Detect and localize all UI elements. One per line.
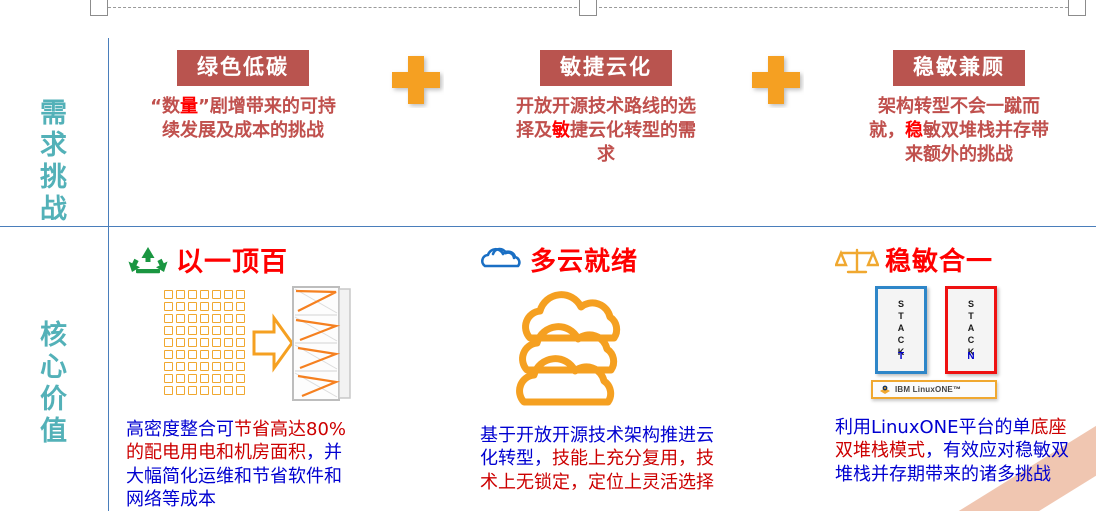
multi-cloud-illustration (502, 286, 720, 414)
value-card-header: 以一顶百 (126, 242, 356, 282)
server-grid-cell (164, 350, 173, 359)
server-grid-cell (188, 290, 197, 299)
server-grid-cell (236, 350, 245, 359)
server-grid-cell (164, 326, 173, 335)
challenge-body-text: 开放开源技术路线的选择及敏捷云化转型的需求 (513, 95, 699, 166)
value-card-description: 利用LinuxONE平台的单底座双堆栈模式，有效应对稳敏双堆栈并存期带来的诸多挑… (835, 416, 1075, 486)
server-grid-cell (176, 386, 185, 395)
row-label-char: 价 (20, 384, 88, 416)
server-grid-cell (212, 314, 221, 323)
stacked-clouds-icon (502, 286, 662, 414)
server-density-illustration (164, 286, 356, 406)
stack-tag: T (878, 351, 924, 362)
recycle-icon (126, 245, 170, 279)
server-grid-cell (236, 374, 245, 383)
server-grid-cell (176, 374, 185, 383)
server-grid-cell (224, 338, 233, 347)
server-grid-cell (236, 302, 245, 311)
stack-box-new: S T A C K N (945, 286, 997, 374)
server-grid-cell (200, 362, 209, 371)
row-divider-line (0, 226, 1096, 227)
server-grid-cell (176, 338, 185, 347)
server-grid-cell (200, 302, 209, 311)
slide-selection-guide[interactable] (88, 0, 1088, 18)
value-card[interactable]: 稳敏合一 S T A C K T S T (835, 242, 1075, 486)
server-grid-cell (164, 314, 173, 323)
server-grid-cell (212, 350, 221, 359)
row-label-char: 核 (20, 320, 88, 352)
server-grid-cell (188, 362, 197, 371)
row-label-char: 挑 (20, 162, 88, 194)
server-grid-cell (224, 362, 233, 371)
server-grid-cell (188, 350, 197, 359)
value-card-description: 基于开放开源技术架构推进云化转型，技能上充分复用，技术上无锁定，定位上灵活选择 (480, 424, 720, 494)
plus-icon (748, 52, 804, 108)
server-grid-cell (236, 338, 245, 347)
server-grid-cell (224, 302, 233, 311)
server-grid-cell (164, 338, 173, 347)
server-grid-cell (212, 386, 221, 395)
server-grid-cell (212, 338, 221, 347)
server-grid-cell (200, 386, 209, 395)
server-grid-cell (236, 362, 245, 371)
server-grid-cell (200, 338, 209, 347)
server-grid-cell (224, 290, 233, 299)
slide-canvas: 需 求 挑 战 核 心 价 值 绿色低碳 “数量”剧增带来的可持续发展及成本的挑… (0, 0, 1096, 511)
server-grid-cell (224, 314, 233, 323)
balance-scale-icon (835, 245, 879, 279)
value-card-title: 多云就绪 (530, 249, 638, 275)
server-grid-cell (212, 290, 221, 299)
server-grid-cell (164, 362, 173, 371)
dual-stack-illustration: S T A C K T S T A C K (861, 286, 1075, 408)
row-label-char: 心 (20, 352, 88, 384)
challenge-body-text: 架构转型不会一蹴而就，稳敏双堆栈并存带来额外的挑战 (866, 95, 1052, 166)
server-grid-cell (212, 362, 221, 371)
server-grid (164, 290, 247, 397)
server-grid-cell (176, 350, 185, 359)
server-grid-cell (212, 374, 221, 383)
server-grid-cell (176, 314, 185, 323)
server-grid-cell (188, 338, 197, 347)
server-grid-cell (176, 302, 185, 311)
server-grid-cell (224, 326, 233, 335)
row-label-demand-challenge: 需 求 挑 战 (20, 98, 88, 225)
server-grid-cell (164, 302, 173, 311)
server-grid-cell (200, 290, 209, 299)
server-grid-cell (200, 326, 209, 335)
challenge-card[interactable]: 稳敏兼顾 架构转型不会一蹴而就，稳敏双堆栈并存带来额外的挑战 (866, 50, 1052, 166)
row-label-char: 战 (20, 194, 88, 226)
plus-icon (388, 52, 444, 108)
server-grid-cell (188, 314, 197, 323)
server-grid-cell (188, 374, 197, 383)
row-label-char: 求 (20, 130, 88, 162)
server-grid-cell (200, 350, 209, 359)
server-grid-cell (200, 374, 209, 383)
challenge-card[interactable]: 敏捷云化 开放开源技术路线的选择及敏捷云化转型的需求 (513, 50, 699, 166)
selection-handle-left[interactable] (90, 0, 108, 16)
cloud-icon (480, 245, 524, 279)
value-card-title: 以一顶百 (176, 249, 288, 276)
arrow-icon (252, 312, 294, 374)
server-grid-cell (188, 386, 197, 395)
server-grid-cell (236, 326, 245, 335)
challenge-badge-title: 绿色低碳 (177, 50, 309, 86)
challenge-card[interactable]: 绿色低碳 “数量”剧增带来的可持续发展及成本的挑战 (150, 50, 336, 143)
stack-letters: S T A C K (948, 299, 994, 358)
challenge-badge-title: 敏捷云化 (540, 50, 672, 86)
row-label-char: 需 (20, 98, 88, 130)
value-card-title: 稳敏合一 (885, 249, 993, 275)
server-grid-cell (164, 386, 173, 395)
server-grid-cell (212, 326, 221, 335)
server-grid-cell (176, 290, 185, 299)
server-grid-cell (224, 386, 233, 395)
value-card-header: 多云就绪 (480, 242, 720, 282)
server-grid-cell (236, 314, 245, 323)
server-grid-cell (200, 314, 209, 323)
server-grid-cell (164, 290, 173, 299)
value-card[interactable]: 多云就绪 基于开放开源技术架构推进云化转型，技能上充分复用，技术上无锁定，定位上… (480, 242, 720, 494)
server-grid-cell (236, 386, 245, 395)
row-label-core-value: 核 心 价 值 (20, 320, 88, 447)
challenge-badge-title: 稳敏兼顾 (893, 50, 1025, 86)
stack-letters: S T A C K (878, 299, 924, 358)
linuxone-logo-icon (879, 384, 891, 396)
server-grid-cell (212, 302, 221, 311)
server-grid-cell (164, 374, 173, 383)
linuxone-badge: IBM LinuxONE™ (871, 380, 997, 399)
server-grid-cell (188, 326, 197, 335)
value-card-header: 稳敏合一 (835, 242, 1075, 282)
column-divider-line (108, 38, 109, 511)
linuxone-badge-text: IBM LinuxONE™ (895, 385, 961, 394)
row-label-char: 值 (20, 416, 88, 448)
stack-tag: N (948, 351, 994, 362)
server-rack-icon (292, 286, 354, 401)
selection-handle-center[interactable] (579, 0, 597, 16)
server-grid-cell (188, 302, 197, 311)
server-grid-cell (224, 374, 233, 383)
server-grid-cell (236, 290, 245, 299)
value-card[interactable]: 以一顶百 (126, 242, 356, 511)
server-grid-cell (176, 362, 185, 371)
selection-handle-right[interactable] (1068, 0, 1086, 16)
stack-box-traditional: S T A C K T (875, 286, 927, 374)
challenge-body-text: “数量”剧增带来的可持续发展及成本的挑战 (150, 95, 336, 143)
server-grid-cell (176, 326, 185, 335)
server-grid-cell (224, 350, 233, 359)
value-card-description: 高密度整合可节省高达80%的配电用电和机房面积，并大幅简化运维和节省软件和网络等… (126, 418, 356, 511)
